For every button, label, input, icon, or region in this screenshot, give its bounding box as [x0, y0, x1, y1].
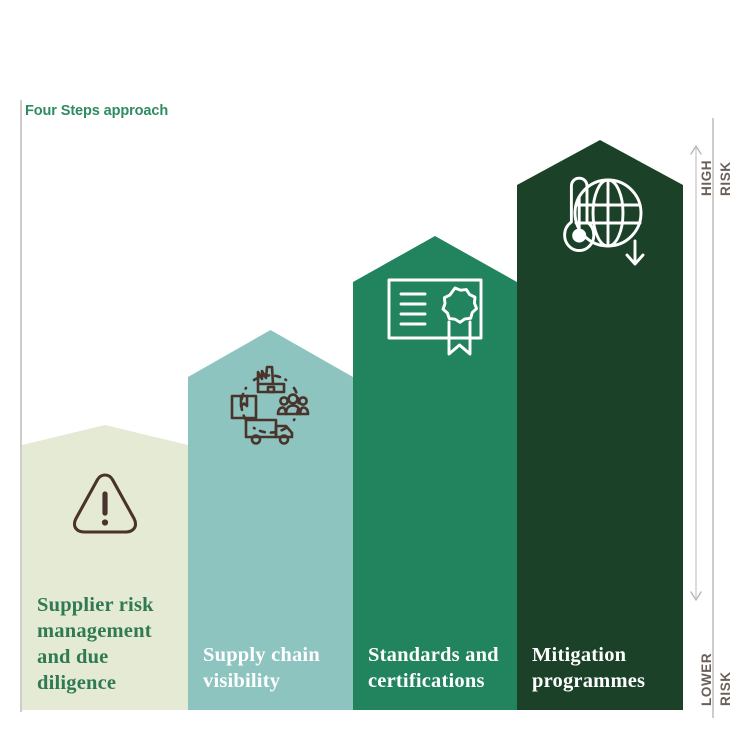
step-label: Standards and certifications	[368, 642, 499, 694]
page-title: Four Steps approach	[25, 103, 168, 119]
high-risk-label-line1: HIGH	[699, 160, 714, 196]
risk-direction-arrow-icon	[687, 138, 705, 608]
right-axis-line	[712, 118, 714, 718]
step-bar-mitigation-programmes[interactable]: Mitigation programmes	[517, 140, 683, 710]
infographic-canvas: Four Steps approach HIGH RISK LOWER RISK…	[0, 0, 740, 740]
certificate-award-icon	[383, 272, 487, 360]
globe-thermometer-icon	[551, 168, 651, 268]
step-label: Supplier risk management and due diligen…	[37, 592, 154, 696]
step-label: Supply chain visibility	[203, 642, 320, 694]
step-bar-supplier-risk[interactable]: Supplier risk management and due diligen…	[22, 425, 188, 710]
step-bar-standards-certifications[interactable]: Standards and certifications	[353, 236, 517, 710]
step-label: Mitigation programmes	[532, 642, 645, 694]
supply-chain-cycle-icon	[224, 358, 316, 450]
warning-triangle-icon	[66, 463, 144, 541]
high-risk-label-line2: RISK	[718, 161, 733, 196]
lower-risk-label-line2: RISK	[718, 671, 733, 706]
lower-risk-label-line1: LOWER	[699, 653, 714, 706]
step-bar-supply-chain-visibility[interactable]: Supply chain visibility	[188, 330, 353, 710]
